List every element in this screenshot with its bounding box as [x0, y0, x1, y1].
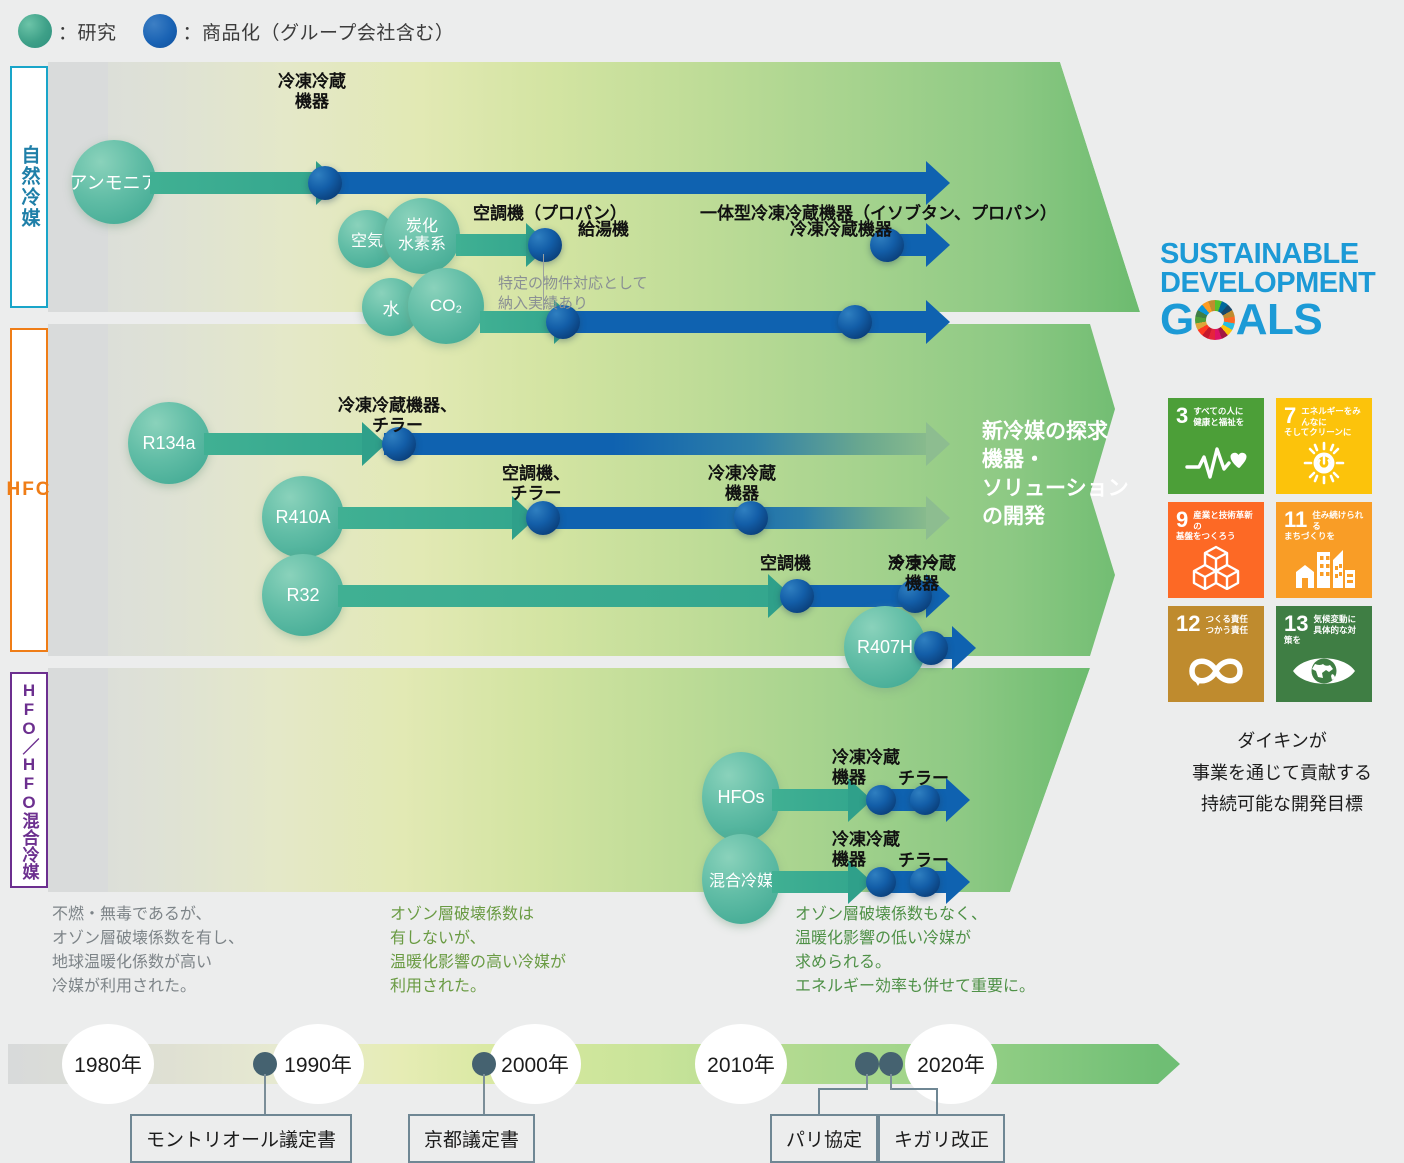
research-arrow-r32: [338, 585, 770, 607]
milestone-node-propane-ac[interactable]: [528, 228, 562, 262]
sun-power-icon: [1276, 439, 1372, 487]
sdg-colour-wheel-icon: [1195, 300, 1235, 340]
source-bubble-ammonia[interactable]: アンモニア: [72, 140, 156, 224]
timeline-year-1990: 1990年: [272, 1024, 364, 1104]
milestone-node-r410a-refrigeration[interactable]: [734, 501, 768, 535]
timeline-stem-montreal: [264, 1074, 266, 1116]
sdg-tile-11-number: 11: [1284, 509, 1307, 531]
timeline-year-2000: 2000年: [489, 1024, 581, 1104]
category-label-hfc: HFC: [10, 328, 48, 652]
sdg-logo-line1: SUSTAINABLE: [1160, 240, 1404, 269]
timeline-event-dot-montreal[interactable]: [253, 1052, 277, 1076]
milestone-node-hfos-chiller[interactable]: [910, 785, 940, 815]
source-bubble-r407h-label: R407H: [857, 637, 913, 658]
sdg-tile-11[interactable]: 11 住み続けられる まちづくりを: [1276, 502, 1372, 598]
source-bubble-mixed[interactable]: 混合冷媒: [702, 834, 780, 924]
timeline-event-label-paris[interactable]: パリ協定: [770, 1114, 878, 1163]
cubes-icon: [1168, 543, 1264, 591]
sdg-tile-12[interactable]: 12 つくる責任 つかう責任: [1168, 606, 1264, 702]
research-arrow-ammonia: [150, 172, 318, 194]
source-bubble-co2[interactable]: CO₂: [408, 268, 484, 344]
category-label-hfc-text: HFC: [6, 480, 51, 500]
milestone-label-mixed-refrigeration: 冷凍冷蔵 機器: [832, 830, 900, 869]
sdg-logo-als: ALS: [1236, 298, 1323, 342]
legend-item-research: ：研究: [18, 14, 117, 48]
sdg-tile-3[interactable]: 3 すべての人に 健康と福祉を: [1168, 398, 1264, 494]
source-bubble-r134a-label: R134a: [142, 433, 195, 454]
milestone-label-hfos-chiller: チラー: [898, 769, 949, 789]
milestone-label-r407h: 冷凍冷蔵 機器: [888, 554, 956, 593]
sdg-tile-7[interactable]: 7 エネルギーをみんなに そしてクリーンに: [1276, 398, 1372, 494]
timeline-event-label-kyoto[interactable]: 京都議定書: [408, 1114, 535, 1163]
timeline-stem-kyoto: [483, 1074, 485, 1116]
milestone-label-ammonia-1: 冷凍冷蔵 機器: [278, 72, 346, 111]
commercial-arrow-r410a: [534, 507, 928, 529]
era-description-2: オゾン層破壊係数は 有しないが、 温暖化影響の高い冷媒が 利用された。: [390, 903, 566, 999]
source-bubble-hfos-label: HFOs: [718, 787, 765, 808]
milestone-label-hfos-refrigeration: 冷凍冷蔵 機器: [832, 748, 900, 787]
milestone-node-mixed-refrigeration[interactable]: [866, 867, 896, 897]
timeline-elbow-kigali: [890, 1088, 938, 1116]
city-icon: [1276, 543, 1372, 591]
research-arrow-r134a: [204, 433, 364, 455]
timeline-year-1980: 1980年: [62, 1024, 154, 1104]
source-bubble-r410a-label: R410A: [275, 507, 330, 528]
era-description-1: 不燃・無毒であるが、 オゾン層破壊係数を有し、 地球温暖化係数が高い 冷媒が利用…: [52, 903, 244, 999]
sdg-tile-9[interactable]: 9 産業と技術革新の 基盤をつくろう: [1168, 502, 1264, 598]
legend-label-research: ：研究: [58, 18, 117, 45]
source-bubble-hydrocarbon-label: 炭化 水素系: [398, 218, 446, 255]
research-arrow-hydrocarbon: [456, 234, 528, 256]
outcome-text: 新冷媒の探求 機器・ ソリューション の開発: [982, 418, 1129, 531]
milestone-node-hfos-refrigeration[interactable]: [866, 785, 896, 815]
commercial-arrow-co2: [556, 311, 928, 333]
milestone-label-r32-ac: 空調機: [760, 554, 811, 574]
timeline-event-label-kigali[interactable]: キガリ改正: [878, 1114, 1005, 1163]
timeline-event-dot-kyoto[interactable]: [472, 1052, 496, 1076]
annotation-note: 特定の物件対応として 納入実績あり: [498, 274, 648, 313]
timeline-stem-kigali: [890, 1074, 892, 1090]
source-bubble-hydrocarbon[interactable]: 炭化 水素系: [384, 198, 460, 274]
sdg-logo-line2: DEVELOPMENT: [1160, 269, 1404, 298]
milestone-label-r134a: 冷凍冷蔵機器、 チラー: [338, 396, 457, 435]
timeline-event-label-montreal[interactable]: モントリオール議定書: [130, 1114, 352, 1163]
sdg-tile-13[interactable]: 13 気候変動に 具体的な対策を: [1276, 606, 1372, 702]
source-bubble-mixed-label: 混合冷媒: [709, 867, 773, 891]
blue-circle-icon: [143, 14, 177, 48]
sdg-logo: SUSTAINABLE DEVELOPMENT G ALS: [1160, 240, 1404, 342]
infinity-icon: [1168, 647, 1264, 695]
refrigerant-roadmap: 自然冷媒 HFC HFO／HFO混合冷媒 アンモニア 冷凍冷蔵 機器 空気 炭化…: [0, 62, 1140, 892]
infographic-root: ：研究 ：商品化（グループ会社含む）: [0, 0, 1404, 1154]
milestone-label-mixed-chiller: チラー: [898, 851, 949, 871]
legend-label-commercial: ：商品化（グループ会社含む）: [183, 18, 455, 45]
eye-globe-icon: [1276, 647, 1372, 695]
sdg-tile-12-number: 12: [1176, 613, 1200, 635]
category-label-natural: 自然冷媒: [10, 66, 48, 308]
milestone-node-co2-refrigeration[interactable]: [838, 305, 872, 339]
sdg-panel: SUSTAINABLE DEVELOPMENT G ALS 3 すべての人に 健…: [1160, 240, 1404, 821]
source-bubble-air-label: 空気: [351, 227, 383, 251]
source-bubble-r134a[interactable]: R134a: [128, 402, 210, 484]
sdg-logo-g: G: [1160, 298, 1194, 342]
timeline: 1980年 1990年 2000年 2010年 2020年 モントリオール議定書…: [0, 1022, 1404, 1154]
timeline-year-2010: 2010年: [695, 1024, 787, 1104]
source-bubble-co2-label: CO₂: [430, 296, 462, 316]
milestone-node-r407h[interactable]: [914, 631, 948, 665]
research-arrow-mixed: [772, 871, 850, 893]
research-arrow-r410a: [338, 507, 514, 529]
timeline-event-dot-kigali[interactable]: [879, 1052, 903, 1076]
sdg-tile-7-number: 7: [1284, 405, 1296, 427]
sdg-goal-grid: 3 すべての人に 健康と福祉を 7 エネルギーをみんなに そしてクリーンに: [1168, 398, 1404, 702]
milestone-label-r410a-refrigeration: 冷凍冷蔵 機器: [708, 464, 776, 503]
green-circle-icon: [18, 14, 52, 48]
milestone-node-ammonia-1[interactable]: [308, 166, 342, 200]
commercial-arrow-ammonia: [318, 172, 928, 194]
legend-item-commercial: ：商品化（グループ会社含む）: [143, 14, 455, 48]
milestone-label-water-heater: 給湯機: [578, 220, 629, 240]
source-bubble-r32[interactable]: R32: [262, 554, 344, 636]
milestone-node-r410a-ac[interactable]: [526, 501, 560, 535]
category-label-hfo: HFO／HFO混合冷媒: [10, 672, 48, 888]
sdg-logo-line3: G ALS: [1160, 298, 1404, 342]
timeline-stem-paris: [866, 1074, 868, 1090]
legend: ：研究 ：商品化（グループ会社含む）: [18, 14, 454, 48]
era-description-3: オゾン層破壊係数もなく、 温暖化影響の低い冷媒が 求められる。 エネルギー効率も…: [795, 903, 1035, 999]
research-arrow-co2: [480, 311, 556, 333]
heart-pulse-icon: [1168, 439, 1264, 487]
research-arrow-hfos: [772, 789, 850, 811]
sdg-tile-13-number: 13: [1284, 613, 1308, 635]
source-bubble-hfos[interactable]: HFOs: [702, 752, 780, 842]
timeline-event-dot-paris[interactable]: [855, 1052, 879, 1076]
timeline-arrowhead-icon: [1158, 1044, 1180, 1084]
commercial-arrow-r134a: [384, 433, 928, 455]
sdg-caption: ダイキンが 事業を通じて貢献する 持続可能な開発目標: [1160, 726, 1404, 821]
milestone-label-r410a-ac: 空調機、 チラー: [502, 464, 570, 503]
source-bubble-water-label: 水: [383, 295, 400, 320]
source-bubble-ammonia-label: アンモニア: [69, 169, 158, 195]
milestone-label-co2-refrigeration: 冷凍冷蔵機器: [790, 220, 892, 240]
milestone-node-r32-ac[interactable]: [780, 579, 814, 613]
source-bubble-r32-label: R32: [286, 585, 319, 606]
timeline-elbow-paris: [818, 1088, 866, 1116]
sdg-tile-3-number: 3: [1176, 405, 1188, 427]
source-bubble-r410a[interactable]: R410A: [262, 476, 344, 558]
sdg-tile-9-number: 9: [1176, 509, 1188, 531]
milestone-node-mixed-chiller[interactable]: [910, 867, 940, 897]
